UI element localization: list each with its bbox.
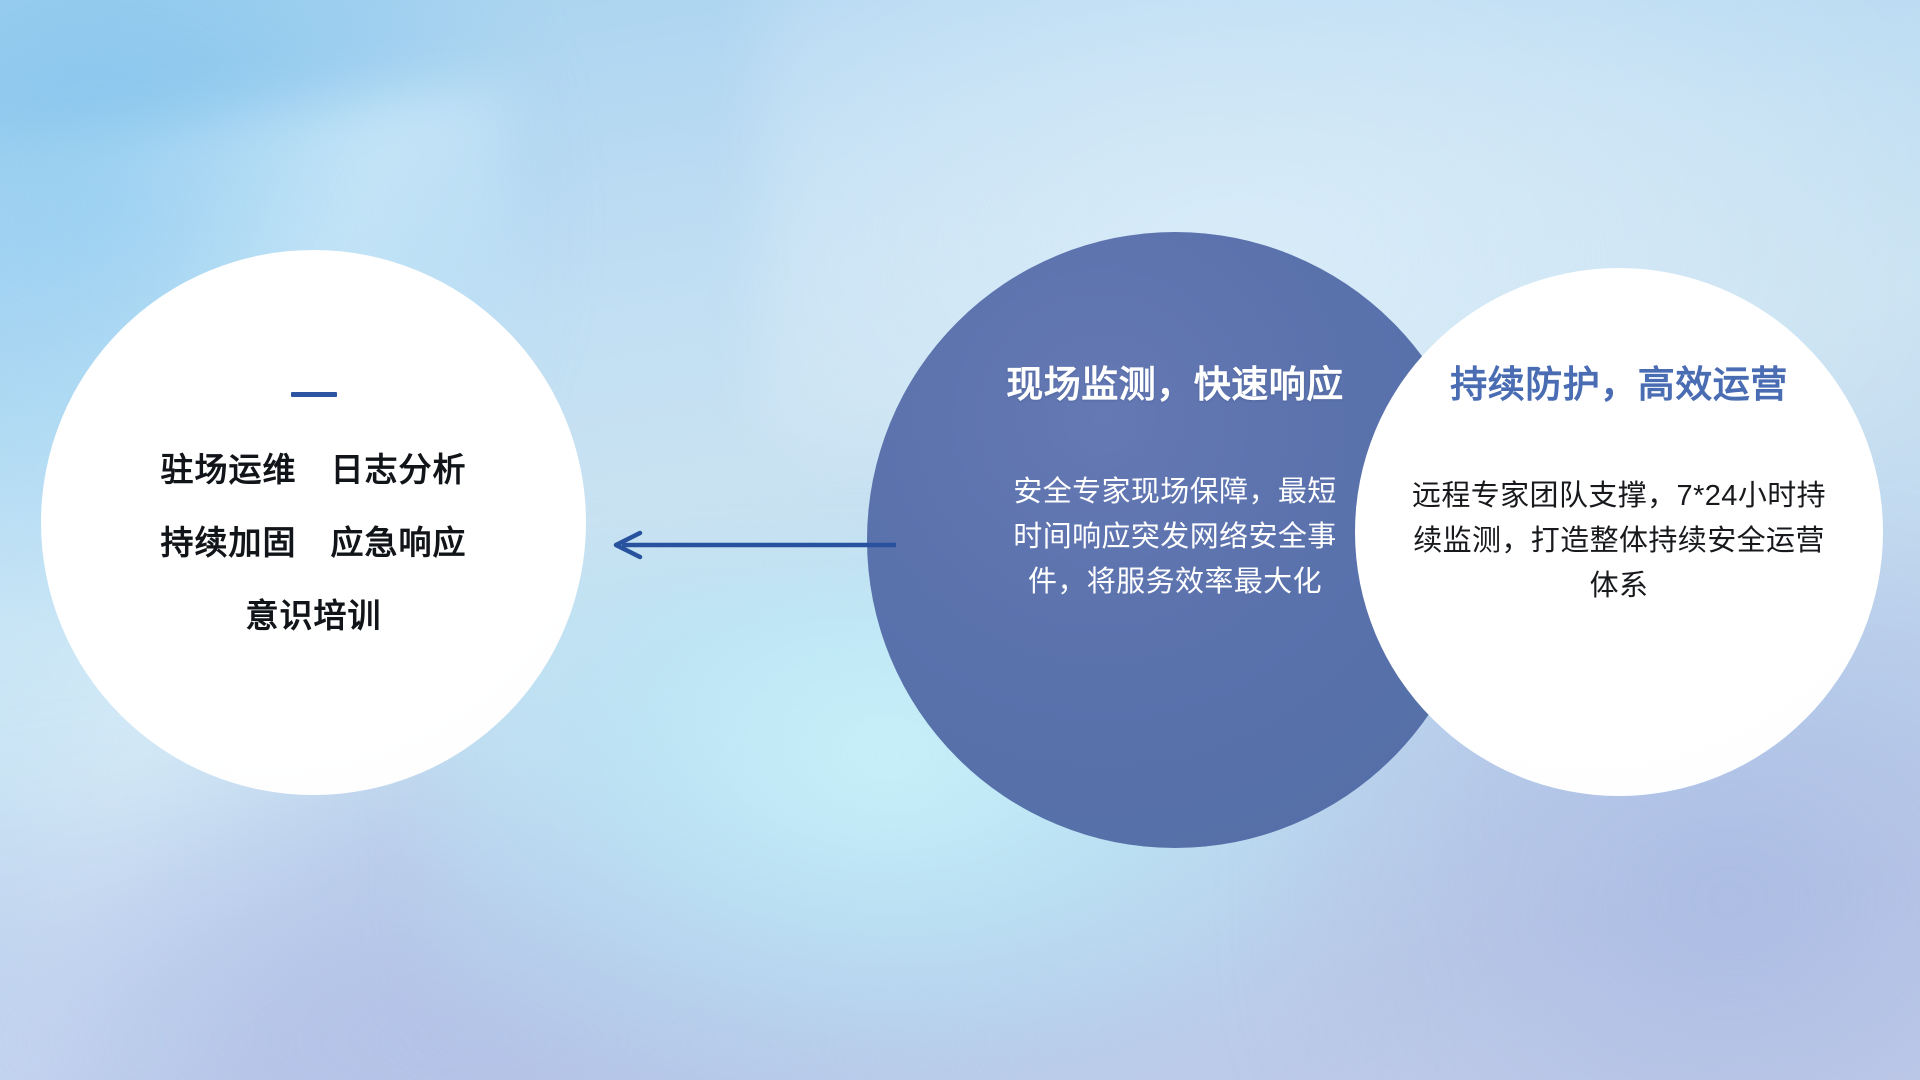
arrow-left-icon [600, 515, 900, 575]
right-circle-shape [1355, 268, 1883, 796]
left-circle-shape [41, 250, 586, 795]
slide-canvas: 驻场运维 日志分析 持续加固 应急响应 意识培训 现场监测，快速响应 安全专家现… [0, 0, 1920, 1080]
